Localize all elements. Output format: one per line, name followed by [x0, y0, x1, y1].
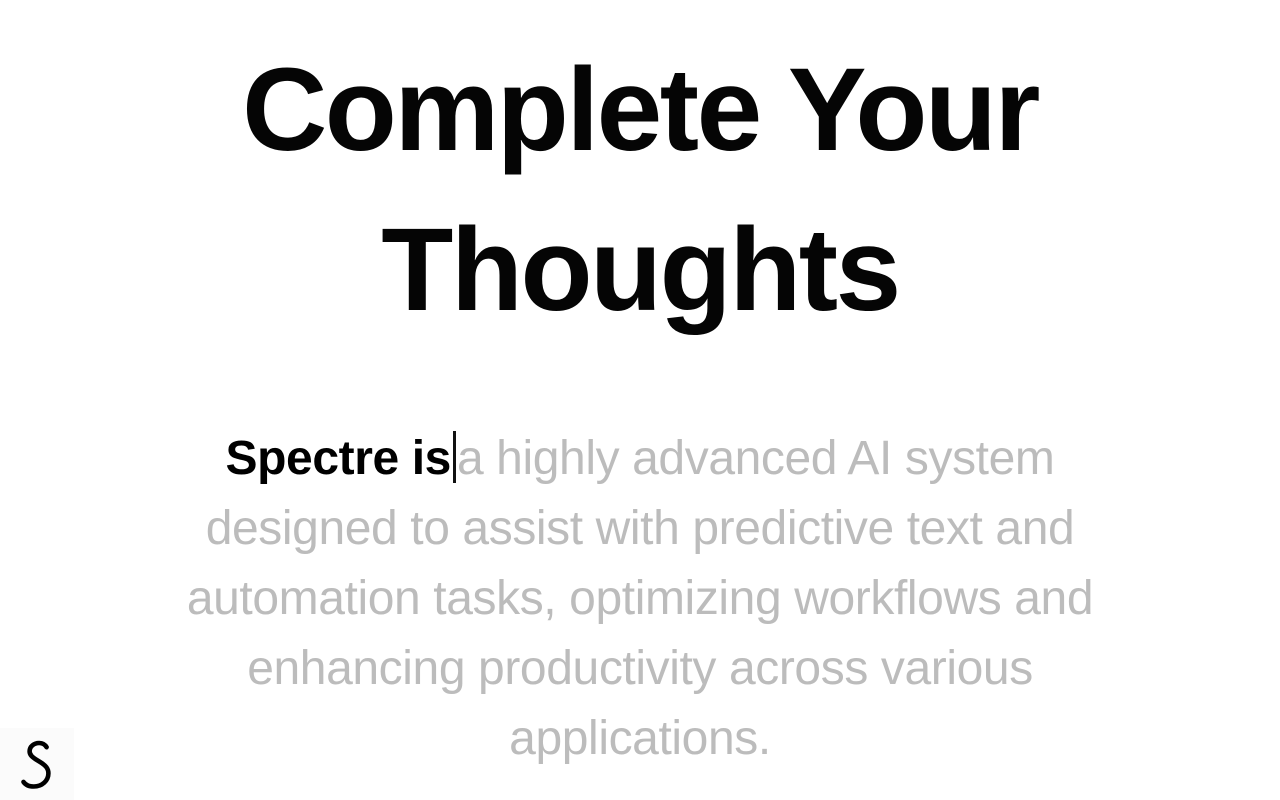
brand-logo[interactable]: [0, 728, 74, 800]
page-title: Complete Your Thoughts: [0, 30, 1280, 350]
page-title-line-2: Thoughts: [0, 190, 1280, 350]
text-completion-field[interactable]: Spectre isa highly advanced AI system de…: [150, 424, 1130, 774]
typed-text: Spectre is: [225, 432, 450, 485]
page-title-line-1: Complete Your: [0, 30, 1280, 190]
text-cursor-icon: [453, 431, 456, 483]
page-root: Complete Your Thoughts Spectre isa highl…: [0, 0, 1280, 800]
script-s-logo-icon: [15, 738, 59, 790]
